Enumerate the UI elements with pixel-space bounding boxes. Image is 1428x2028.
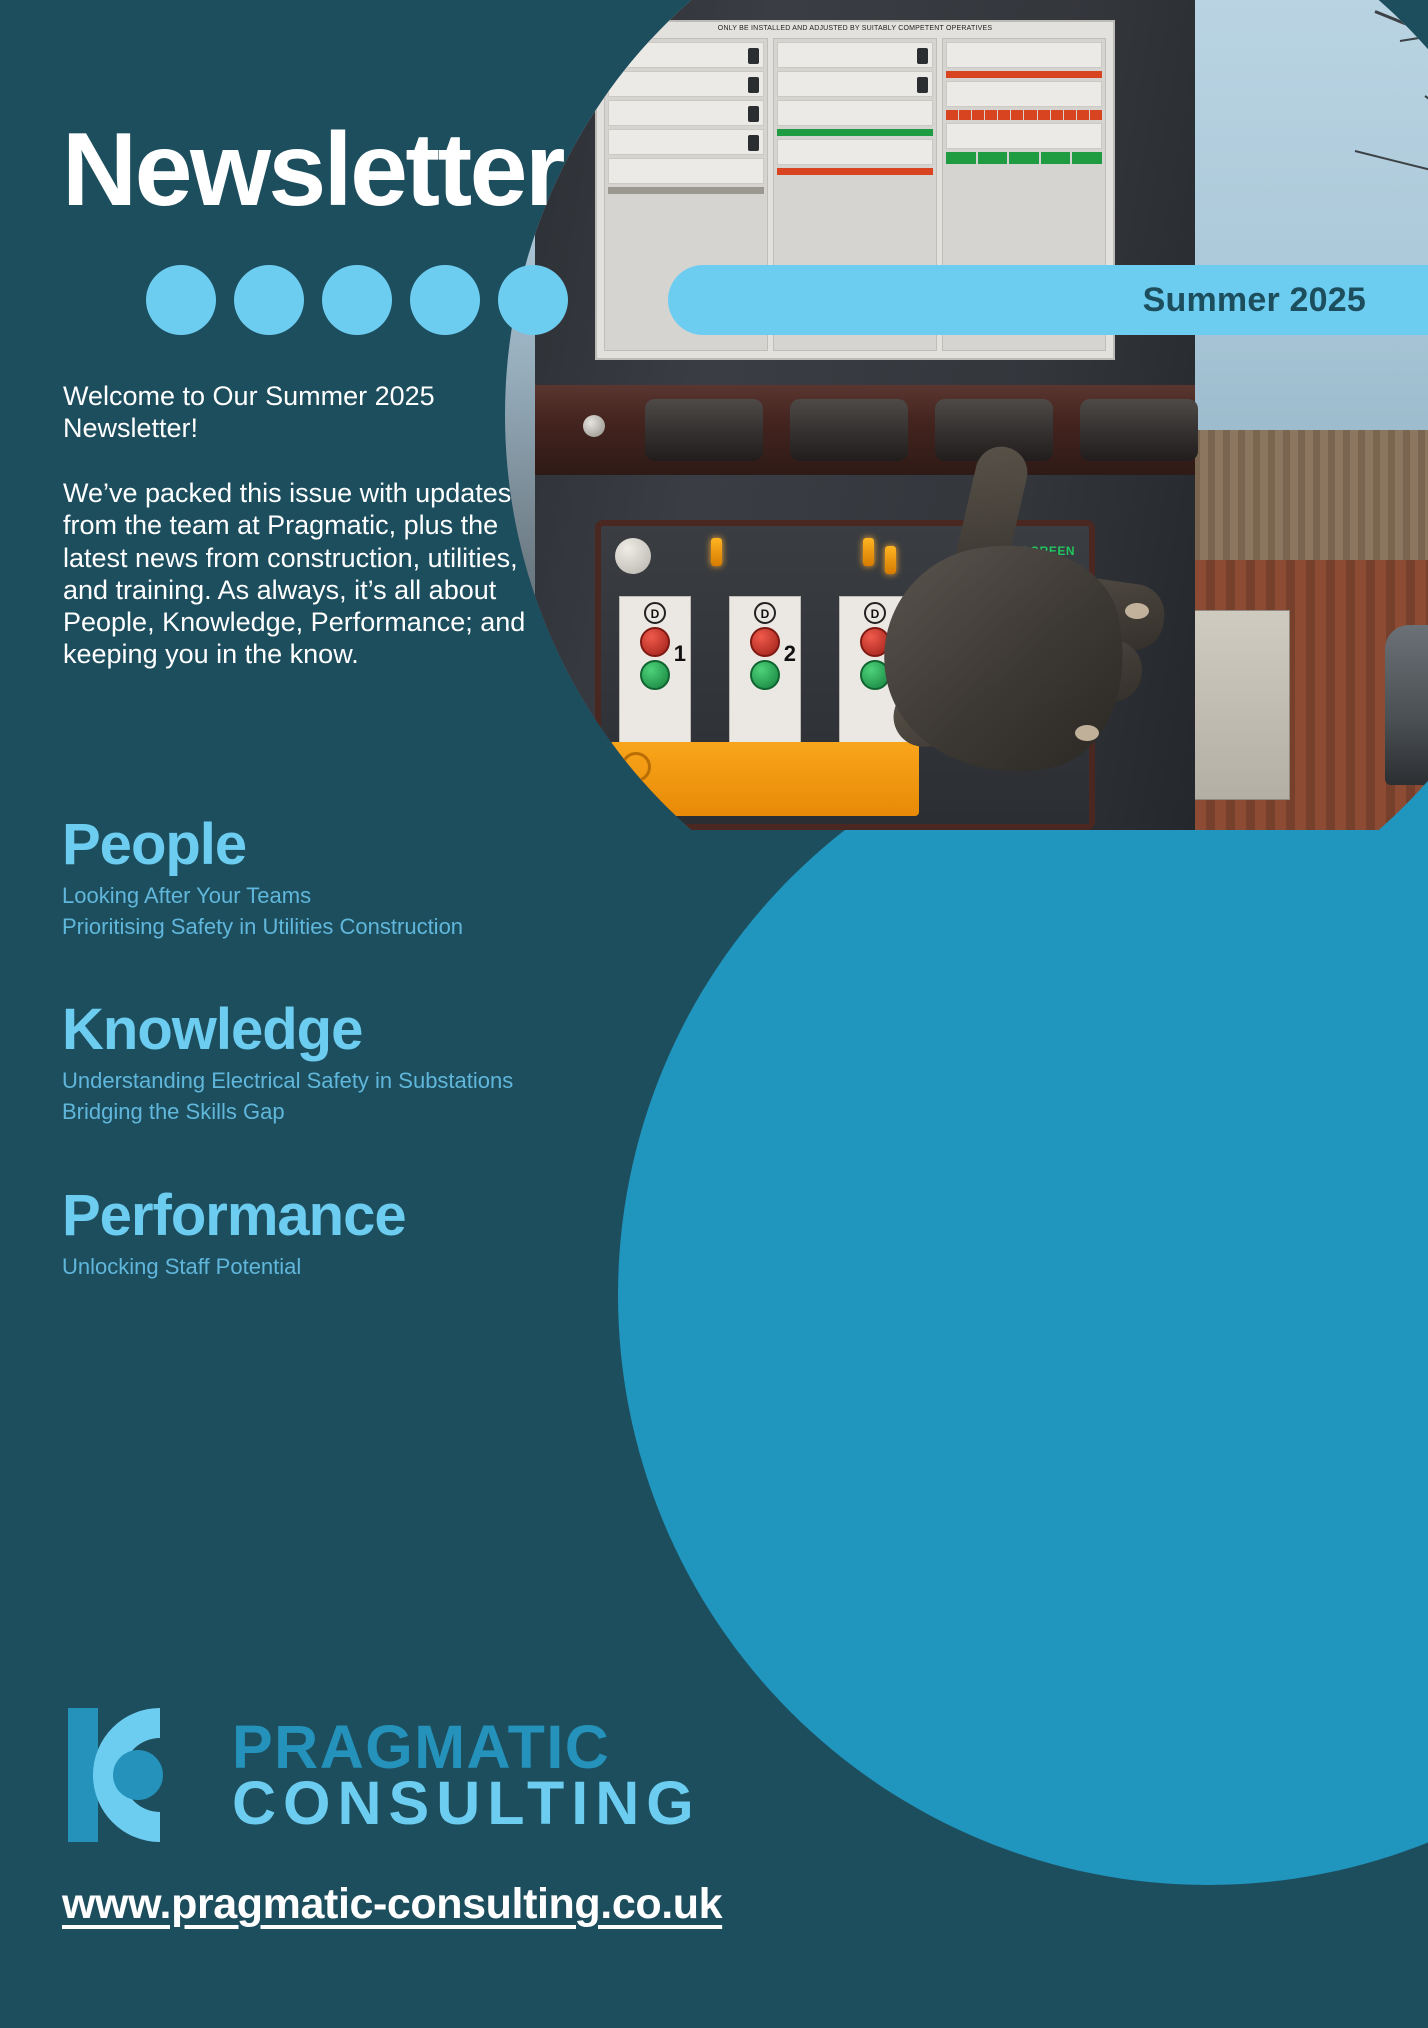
section-item: Understanding Electrical Safety in Subst…	[62, 1065, 622, 1096]
photo-label-bar	[777, 129, 933, 136]
photo-label-dot-icon	[748, 135, 759, 151]
photo-panel-round-button	[615, 538, 651, 574]
photo-label-dot-icon	[748, 48, 759, 64]
photo-label-cell	[777, 100, 933, 126]
photo-label-dot-icon	[917, 77, 928, 93]
company-logo: PRAGMATIC CONSULTING	[60, 1700, 701, 1850]
photo-orange-button	[621, 782, 651, 812]
contents-sections: People Looking After Your Teams Prioriti…	[62, 815, 622, 1282]
photo-fingernail	[1075, 725, 1099, 741]
photo-label-cell	[608, 158, 764, 184]
photo-hinge-bolt	[583, 415, 605, 437]
photo-label-cell	[608, 42, 764, 68]
photo-label-bar	[946, 71, 1102, 78]
photo-palm	[864, 523, 1147, 798]
decorative-dot	[234, 265, 304, 335]
photo-parked-car	[1385, 625, 1428, 785]
photo-label-bar	[608, 187, 764, 194]
photo-hinge-knuckle	[645, 399, 763, 461]
photo-channel-knob-green	[640, 660, 670, 690]
photo-label-cell	[777, 71, 933, 97]
logo-word-secondary: CONSULTING	[232, 1775, 701, 1831]
photo-label-cell	[608, 71, 764, 97]
photo-label-bar	[777, 168, 933, 175]
intro-body: We’ve packed this issue with updates fro…	[63, 477, 533, 670]
photo-label-cell	[777, 42, 933, 68]
photo-label-dot-icon	[917, 48, 928, 64]
intro-greeting: Welcome to Our Summer 2025 Newsletter!	[63, 380, 533, 444]
logo-word-primary: PRAGMATIC	[232, 1719, 701, 1775]
photo-label-header-text: ONLY BE INSTALLED AND ADJUSTED BY SUITAB…	[597, 22, 1113, 36]
page-title: Newsletter	[62, 118, 563, 222]
hero-photo-traffic-signal-controller: ONLY BE INSTALLED AND ADJUSTED BY SUITAB…	[505, 0, 1428, 830]
section-heading: Knowledge	[62, 1000, 622, 1061]
section-knowledge: Knowledge Understanding Electrical Safet…	[62, 1000, 622, 1127]
decorative-dot	[498, 265, 568, 335]
photo-label-dot-icon	[748, 106, 759, 122]
pc-monogram-icon	[60, 1700, 210, 1850]
logo-wordmark: PRAGMATIC CONSULTING	[232, 1719, 701, 1831]
photo-gloved-hand	[825, 425, 1155, 825]
photo-street-cabinet	[1185, 610, 1290, 800]
photo-label-dot-icon	[748, 77, 759, 93]
photo-channel-knob-green	[750, 660, 780, 690]
issue-label: Summer 2025	[1143, 281, 1366, 320]
section-item: Looking After Your Teams	[62, 880, 622, 911]
section-people: People Looking After Your Teams Prioriti…	[62, 815, 622, 942]
photo-label-red-grid	[946, 110, 1102, 120]
section-item: Bridging the Skills Gap	[62, 1096, 622, 1127]
website-url-link[interactable]: www.pragmatic-consulting.co.uk	[62, 1880, 722, 1929]
decorative-dots-row	[146, 265, 568, 335]
intro-copy: Welcome to Our Summer 2025 Newsletter! W…	[63, 380, 533, 670]
photo-channel-letter: D	[754, 602, 776, 624]
section-item: Prioritising Safety in Utilities Constru…	[62, 911, 622, 942]
photo-amber-led	[711, 538, 722, 566]
issue-badge: Summer 2025	[668, 265, 1428, 335]
section-item: Unlocking Staff Potential	[62, 1251, 622, 1282]
hero-photo-mask: ONLY BE INSTALLED AND ADJUSTED BY SUITAB…	[505, 0, 1428, 960]
photo-channel-knob-red	[640, 627, 670, 657]
photo-label-cell	[777, 139, 933, 165]
photo-channel-knob-red	[750, 627, 780, 657]
photo-label-green-grid	[946, 152, 1102, 164]
photo-label-cell	[608, 100, 764, 126]
photo-label-cell	[946, 123, 1102, 149]
section-performance: Performance Unlocking Staff Potential	[62, 1186, 622, 1282]
section-heading: Performance	[62, 1186, 622, 1247]
photo-channel-number: 1	[674, 641, 686, 667]
photo-channel-number: 2	[784, 641, 796, 667]
photo-fingernail	[1125, 603, 1149, 619]
newsletter-cover-page: ONLY BE INSTALLED AND ADJUSTED BY SUITAB…	[0, 0, 1428, 2028]
photo-label-cell	[946, 42, 1102, 68]
decorative-dot	[410, 265, 480, 335]
section-heading: People	[62, 815, 622, 876]
photo-label-cell	[608, 129, 764, 155]
photo-label-cell	[946, 81, 1102, 107]
photo-orange-button	[621, 752, 651, 782]
photo-sky	[1185, 0, 1428, 430]
photo-channel-letter: D	[644, 602, 666, 624]
decorative-dot	[322, 265, 392, 335]
decorative-dot	[146, 265, 216, 335]
